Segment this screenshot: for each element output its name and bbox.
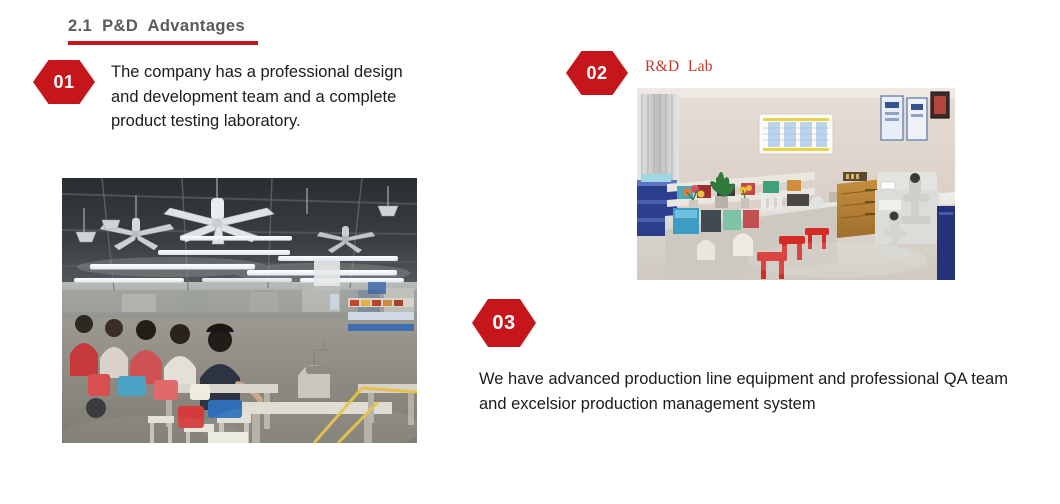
badge-02-label: 02 — [586, 63, 607, 84]
item-01-text: The company has a professional design an… — [111, 60, 427, 134]
lab-photo-artwork — [637, 88, 955, 280]
badge-01: 01 — [33, 60, 95, 104]
badge-01-label: 01 — [53, 72, 74, 93]
badge-03: 03 — [472, 299, 536, 347]
rd-lab-photo — [637, 88, 955, 280]
lab-caption: R&D Lab — [645, 58, 713, 76]
badge-03-label: 03 — [492, 312, 515, 335]
title-underline-rule — [68, 41, 258, 45]
item-03-text: We have advanced production line equipme… — [479, 367, 1019, 417]
badge-02: 02 — [566, 51, 628, 95]
factory-workshop-photo — [62, 178, 417, 443]
factory-photo-artwork — [62, 178, 417, 443]
page-title: 2.1 P&D Advantages — [68, 17, 245, 36]
